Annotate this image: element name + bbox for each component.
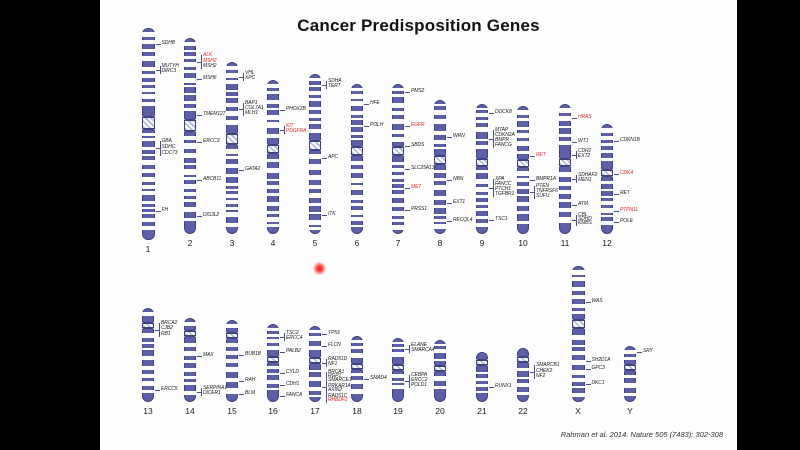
chromosome-band [434,170,446,174]
gene-leader-line [489,220,494,221]
gene-label-POLD1: POLD1 [411,383,427,388]
chromosome-band [309,154,321,158]
gene-label-BMPR1A: BMPR1A [536,177,556,182]
chromosome-18 [351,336,363,402]
gene-label-PRSS1: PRSS1 [411,207,427,212]
centromere [601,170,613,176]
gene-label-ERCC5: ERCC5 [161,387,177,392]
chromosome-band [559,172,571,177]
chromosome-band [624,383,636,388]
gene-leader-line [280,396,285,397]
chromosome-band [476,145,488,149]
chromosome-band [572,270,585,275]
chromosome-band [142,49,155,52]
chromosome-band [267,84,279,88]
chromosome-band [184,62,196,67]
chromosome-band [226,66,238,70]
chromosome-p-arm [624,346,636,365]
chromosome-band [434,214,446,217]
gene-label-ERCC3: ERCC3 [203,139,219,144]
gene-label-TSC1: TSC1 [495,217,507,222]
chromosome-band [142,201,155,204]
chromosome-band [351,111,363,115]
gene-label-EXT1: EXT1 [453,200,465,205]
chromosome-6 [351,84,363,234]
chromosome-label-6: 6 [337,238,377,248]
chromosome-band [142,154,155,156]
chromosome-band [142,218,155,223]
chromosome-band [184,184,196,189]
chromosome-band [351,380,363,385]
gene-leader-line [489,387,494,388]
gene-leader-line [572,118,577,119]
chromosome-label-9: 9 [462,238,502,248]
chromosome-band [142,88,155,91]
gene-leader-line [572,142,577,143]
chromosome-label-15: 15 [212,406,252,416]
chromosome-band [184,136,196,140]
chromosome-band [226,164,238,168]
gene-leader-line [322,158,327,159]
chromosome-band [476,108,488,110]
chromosome-label-X: X [558,406,598,416]
chromosome-label-10: 10 [503,238,543,248]
chromosome-band [226,207,238,210]
chromosome-band [572,311,585,314]
chromosome-band [226,189,238,191]
chromosome-band [267,185,279,189]
gene-label-FH: FH [162,208,168,213]
gene-label-BUB1B: BUB1B [245,352,261,357]
chromosome-band [517,221,529,224]
chromosome-2 [184,38,196,234]
chromosome-band [309,336,321,340]
chromosome-band [309,212,321,214]
chromosome-band [517,171,529,176]
chromosome-label-12: 12 [587,238,627,248]
chromosome-band [572,370,585,375]
gene-label-HFE: HFE [370,101,380,106]
gene-label-APC: APC [328,155,338,160]
gene-label-BLM: BLM [245,391,255,396]
chromosome-band [434,140,446,144]
chromosome-16 [267,324,279,402]
gene-label-PHOX2B: PHOX2B [286,107,306,112]
gene-leader-line [614,211,619,212]
chromosome-band [226,351,238,354]
centromere [184,120,196,131]
gene-leader-line [614,222,619,223]
gene-leader-line [364,126,369,127]
chromosome-band [226,120,238,125]
gene-label-DIS3L2: DIS3L2 [203,213,219,218]
chromosome-band [351,178,363,183]
chromosome-band [184,153,196,158]
chromosome-label-22: 22 [503,406,543,416]
gene-label-ABCB11: ABCB11 [203,177,221,182]
gene-leader-line [197,180,202,181]
gene-leader-line [239,170,244,171]
chromosome-band [351,185,363,190]
gene-leader-line [322,215,327,216]
chromosome-band [184,218,196,221]
chromosome-band [476,372,488,375]
centromere [184,331,196,336]
chromosome-band [517,211,529,215]
gene-leader-line [447,137,452,138]
chromosome-band [601,189,613,191]
chromosome-band [226,212,238,217]
chromosome-band [476,378,488,382]
chromosome-band [351,169,363,173]
chromosome-band [351,101,363,105]
chromosome-band [226,90,238,92]
chromosome-band [142,191,155,194]
chromosome-label-17: 17 [295,406,335,416]
chromosome-band [517,194,529,196]
chromosome-band [601,208,613,212]
gene-leader-line [239,394,244,395]
chromosome-band [184,199,196,201]
chromosome-band [309,330,321,333]
chromosome-Y [624,346,636,402]
gene-bracket [201,388,202,396]
chromosome-band [351,88,363,91]
chromosome-p-arm [476,352,488,360]
chromosome-band [572,287,585,290]
chromosome-band [142,40,155,44]
chromosome-band [309,85,321,87]
chromosome-band [309,129,321,132]
chromosome-22 [517,348,529,402]
chromosome-band [351,225,363,227]
gene-leader-line [586,369,591,370]
chromosome-band [184,56,196,59]
chromosome-band [351,118,363,120]
chromosome-band [572,345,585,347]
chromosome-band [476,170,488,173]
gene-label-KMBS: KMBS [578,221,592,226]
chromosome-band [351,132,363,134]
chromosome-band [351,161,363,164]
chromosome-band [142,133,155,136]
chromosome-band [142,138,155,140]
gene-bracket [284,126,285,134]
chromosome-band [476,391,488,393]
chromosome-band [601,136,613,140]
chromosome-band [517,127,529,129]
chromosome-band [142,177,155,182]
chromosome-band [517,368,529,371]
gene-label-DOCK8: DOCK8 [495,110,512,115]
gene-leader-line [197,356,202,357]
chromosome-band [601,215,613,217]
gene-bracket [534,365,535,379]
gene-leader-line [197,142,202,143]
gene-label-FANCG: FANCG [495,143,512,148]
chromosome-band [392,385,404,388]
chromosome-9 [476,104,488,234]
gene-leader-line [155,390,160,391]
gene-leader-line [197,79,202,80]
gene-leader-line [239,355,244,356]
gene-leader-line [405,169,410,170]
gene-bracket [326,372,327,403]
gene-label-SDHB: SDHB [162,41,176,46]
chromosome-band [434,205,446,208]
gene-bracket [284,333,285,341]
chromosome-band [226,388,238,393]
chromosome-band [572,351,585,355]
gene-label-ATM: ATM [578,202,588,207]
chromosome-band [226,194,238,198]
gene-bracket [159,323,160,337]
gene-label-PALB2: PALB2 [286,349,301,354]
gene-label-MEN1: MEN1 [578,178,592,183]
chromosome-band [601,181,613,184]
gene-label-PMS2: PMS2 [411,89,424,94]
chromosome-band [572,393,585,397]
chromosome-band [351,389,363,394]
chromosome-band [309,114,321,118]
centromere [476,159,488,166]
chromosome-band [572,304,585,309]
gene-label-RECQL4: RECQL4 [453,218,472,223]
chromosome-band [476,384,488,387]
centromere [309,141,321,150]
chromosome-band [309,203,321,206]
chromosome-band [351,340,363,343]
chromosome-band [184,50,196,52]
chromosome-band [184,93,196,95]
chromosome-band [184,207,196,212]
gene-label-NF1: NF1 [328,362,337,367]
chromosome-label-13: 13 [128,406,168,416]
centromere [142,323,154,328]
chromosome-band [226,183,238,185]
chromosome-band [184,78,196,83]
chromosome-band [559,134,571,136]
gene-leader-line [489,113,494,114]
chromosome-band [226,324,238,328]
gene-bracket [493,130,494,148]
gene-label-WT1: WT1 [578,139,588,144]
gene-label-CDKN1B: CDKN1B [620,138,640,143]
chromosome-band [434,196,446,199]
gene-leader-line [280,352,285,353]
gene-label-SMAD4: SMAD4 [370,376,387,381]
chromosome-band [267,91,279,94]
page-title: Cancer Predisposition Genes [100,16,737,36]
gene-leader-line [322,346,327,347]
gene-leader-line [447,203,452,204]
chromosome-band [434,178,446,181]
gene-leader-line [530,180,535,181]
chromosome-band [476,120,488,122]
gene-label-SRY: SRY [643,349,653,354]
chromosome-label-8: 8 [420,238,460,248]
chromosome-band [559,217,571,222]
chromosome-band [434,147,446,150]
chromosome-band [267,211,279,215]
chromosome-band [572,277,585,281]
chromosome-band [142,356,154,359]
chromosome-band [267,202,279,206]
chromosome-band [309,346,321,351]
chromosome-band [392,381,404,383]
chromosome-band [572,386,585,388]
chromosome-band [142,374,154,378]
gene-bracket [326,359,327,367]
chromosome-band [184,70,196,73]
gene-bracket [160,141,161,156]
chromosome-q-arm [517,167,529,234]
chromosome-band [559,126,571,129]
chromosome-band [392,342,404,344]
centromere [476,360,488,365]
chromosome-band [142,160,155,165]
gene-label-ITK: ITK [328,212,335,217]
chromosome-band [601,196,613,198]
chromosome-band [309,193,321,198]
gene-label-RAH: RAH [245,378,255,383]
chromosome-band [309,175,321,179]
gene-leader-line [280,373,285,374]
chromosome-band [142,185,155,188]
chromosome-band [309,227,321,230]
chromosome-band [226,80,238,83]
chromosome-21 [476,352,488,402]
gene-label-TP53: TP53 [328,331,340,336]
chromosome-band [184,108,196,111]
chromosome-band [226,149,238,153]
chromosome-band [142,333,154,338]
chromosome-band [184,368,196,372]
chromosome-band [517,186,529,189]
gene-bracket [534,186,535,199]
gene-leader-line [280,385,285,386]
chromosome-band [392,203,404,207]
chromosome-band [392,194,404,198]
chromosome-3 [226,62,238,234]
chromosome-band [559,190,571,194]
chromosome-band [226,96,238,98]
chromosome-11 [559,104,571,234]
centromere [434,366,446,371]
chromosome-band [184,360,196,363]
chromosome-band [142,390,154,392]
gene-leader-line [405,188,410,189]
chromosome-band [351,195,363,200]
chromosome-band [309,387,321,391]
centromere [226,333,238,338]
chromosome-band [517,118,529,121]
gene-bracket [409,375,410,388]
chromosome-band [517,141,529,146]
gene-leader-line [197,115,202,116]
chromosome-band [601,201,613,206]
chromosome-band [434,110,446,115]
gene-bracket [493,179,494,197]
gene-label-SUFU: SUFU [536,194,549,199]
chromosome-band [392,374,404,378]
gene-bracket [409,345,410,353]
chromosome-band [601,150,613,153]
chromosome-band [476,223,488,227]
chromosome-band [351,138,363,140]
chromosome-band [142,147,155,150]
chromosome-band [184,101,196,103]
chromosome-band [476,139,488,142]
gene-label-PTPN11: PTPN11 [620,208,638,213]
chromosome-band [351,210,363,215]
chromosome-12 [601,124,613,234]
chromosome-band [226,156,238,159]
chromosome-7 [392,84,404,234]
chromosome-band [517,377,529,380]
chromosome-band [392,188,404,190]
chromosome-band [392,225,404,230]
chromosome-label-5: 5 [295,238,335,248]
chromosome-label-19: 19 [378,406,418,416]
chromosome-band [434,344,446,346]
chromosome-label-16: 16 [253,406,293,416]
chromosome-band [624,357,636,360]
chromosome-band [476,179,488,184]
gene-label-NF2: NF2 [536,374,545,379]
chromosome-band [392,119,404,124]
chromosome-band [572,295,585,299]
chromosome-band [142,312,154,316]
chromosome-band [559,141,571,145]
chromosome-band [184,382,196,385]
chromosome-8 [434,100,446,234]
chromosome-band [142,342,154,344]
chromosome-band [309,78,321,81]
chromosome-band [267,217,279,221]
chromosome-band [476,195,488,198]
gene-label-DKC1: DKC1 [592,381,605,386]
gene-leader-line [280,110,285,111]
chromosome-band [559,182,571,187]
chromosome-label-3: 3 [212,238,252,248]
chromosome-band [309,220,321,224]
chromosome-band [267,193,279,197]
gene-label-SBDS: SBDS [411,143,424,148]
gene-leader-line [405,210,410,211]
chromosome-band [226,73,238,78]
chromosome-band [601,143,613,146]
chromosome-band [434,185,446,190]
chromosome-band [309,377,321,381]
gene-label-CYLD: CYLD [286,370,299,375]
gene-label-EXT2: EXT2 [578,154,590,159]
gene-leader-line [405,126,410,127]
chromosome-band [184,351,196,356]
chromosome-band [184,169,196,174]
gene-leader-line [530,156,535,157]
chromosome-label-4: 4 [253,238,293,248]
gene-label-ERCC4: ERCC4 [286,336,302,341]
chromosome-label-14: 14 [170,406,210,416]
gene-label-HRAS: HRAS [578,115,592,120]
chromosome-band [267,224,279,227]
chromosome-p-arm [517,348,529,357]
chromosome-band [267,388,279,390]
chromosome-band [267,100,279,104]
gene-label-CDH1: CDH1 [286,382,299,387]
chromosome-band [434,224,446,229]
